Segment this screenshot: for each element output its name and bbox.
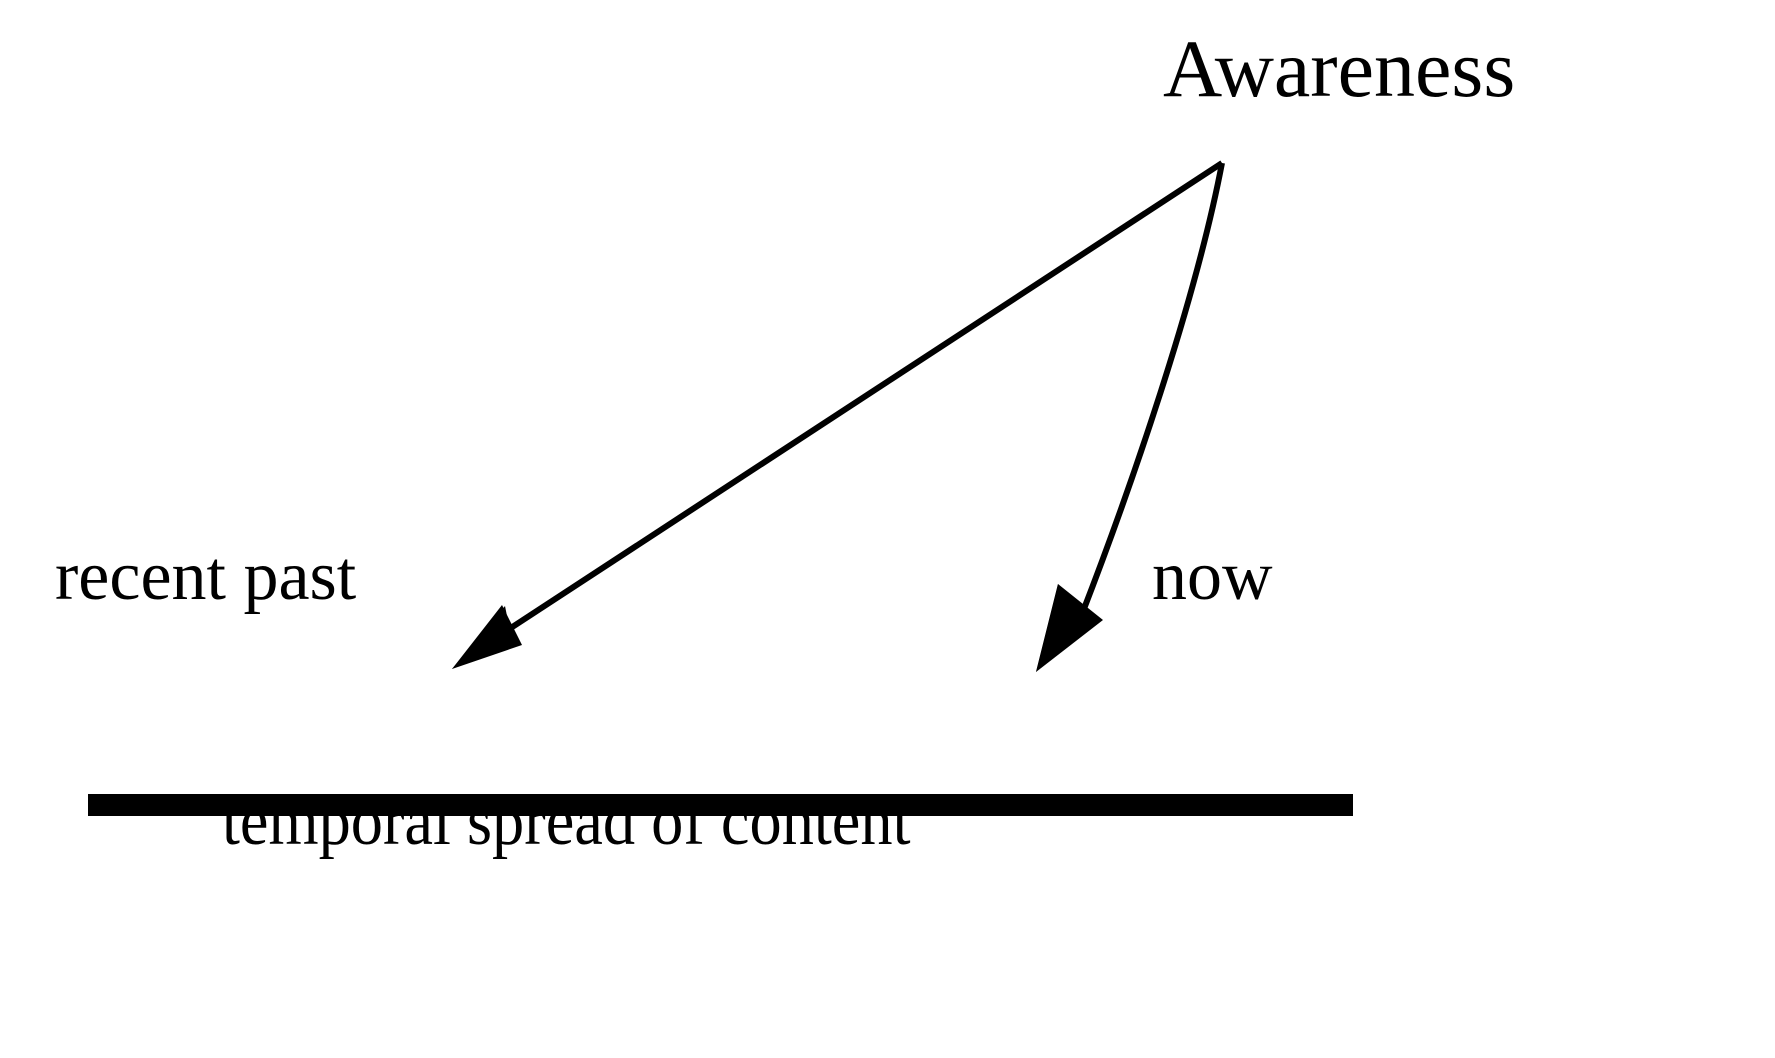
label-now: now [1152,542,1273,612]
label-temporal-spread-of-content: temporal spread of content [222,787,910,857]
diagram-canvas: Awareness recent past now temporal sprea… [0,0,1775,1058]
diagram-vector-layer [0,0,1775,1058]
arrowhead-now [1036,584,1103,672]
arrowhead-recent-past-body [452,605,522,669]
arrow-shaft-recent-past [497,163,1222,637]
label-awareness: Awareness [1163,28,1515,110]
arrow-awareness-to-recent-past [452,163,1222,669]
label-recent-past: recent past [55,542,356,612]
